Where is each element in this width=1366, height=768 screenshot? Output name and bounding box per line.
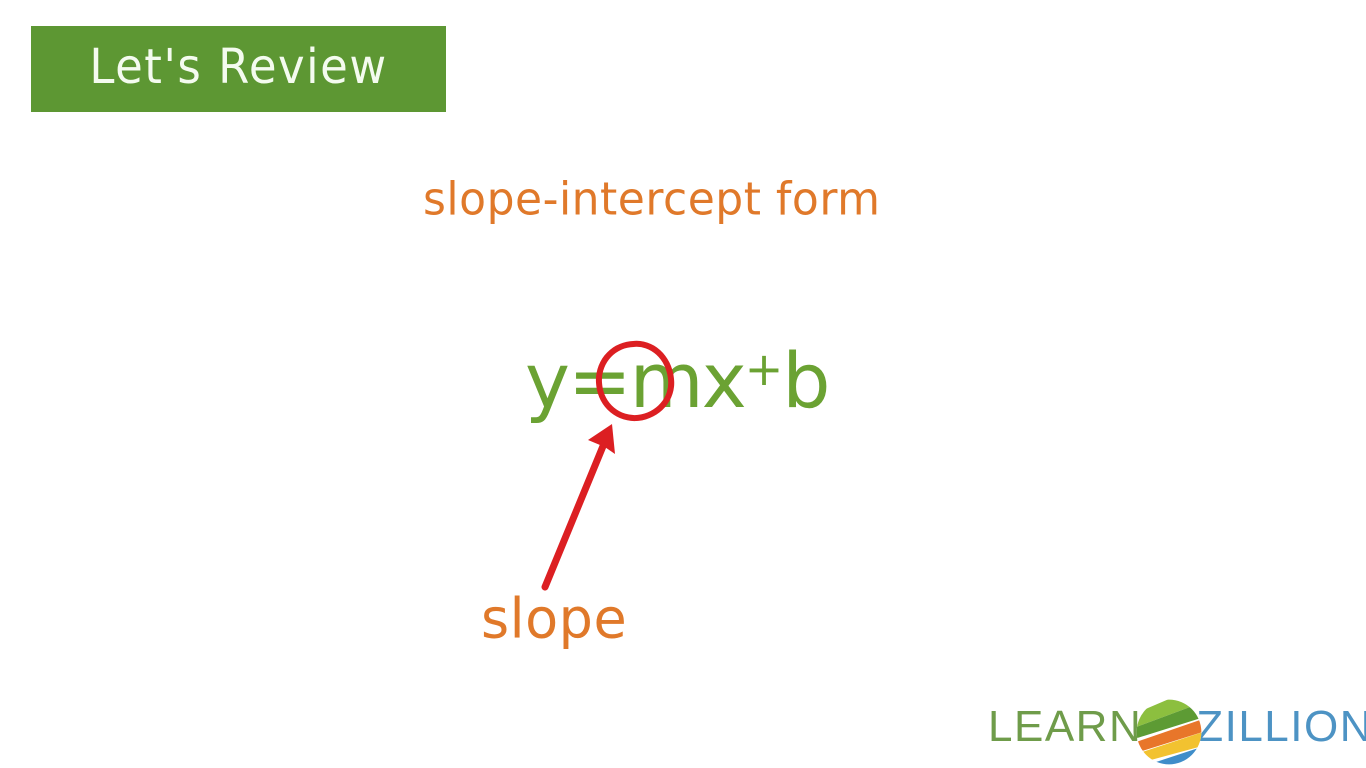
- lets-review-banner-label: Let's Review: [89, 42, 387, 90]
- slope-intercept-equation: y = m x + b: [525, 343, 829, 419]
- logo-learn-text: LEARN: [988, 705, 1142, 749]
- learnzillion-logo: LEARN ZILLION: [988, 692, 1366, 762]
- slope-annotation-label: slope: [481, 591, 627, 647]
- equation-term-x: x: [702, 343, 745, 419]
- slide-canvas: Let's Review slope-intercept form y = m …: [0, 0, 1366, 768]
- lesson-heading: slope-intercept form: [423, 177, 968, 223]
- equation-term-m: m: [630, 343, 702, 419]
- logo-zillion-text: ZILLION: [1196, 705, 1366, 749]
- equation-term-y: y: [525, 343, 568, 419]
- equation-plus-sign: +: [745, 346, 783, 392]
- equation-equals-sign: =: [568, 343, 630, 419]
- equation-term-b: b: [782, 343, 828, 419]
- globe-icon: [1136, 699, 1202, 765]
- slope-pointer-arrow: [520, 412, 640, 602]
- lets-review-banner: Let's Review: [31, 26, 446, 112]
